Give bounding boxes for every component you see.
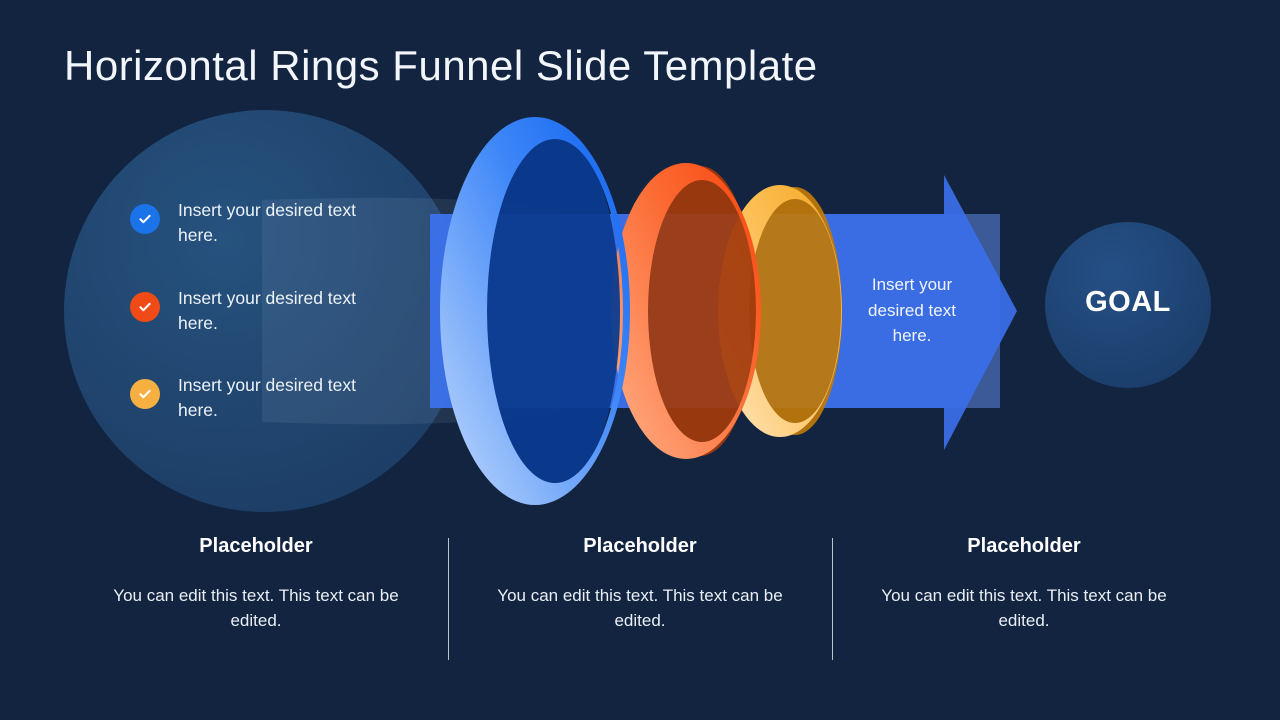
- page-title: Horizontal Rings Funnel Slide Template: [64, 42, 818, 90]
- arrow-caption: Insert your desired text here.: [848, 272, 976, 349]
- ring-stage-2: [611, 163, 761, 459]
- check-circle-icon: [130, 292, 160, 322]
- list-item[interactable]: Insert your desired text here.: [130, 373, 400, 423]
- list-item-label: Insert your desired text here.: [178, 198, 400, 248]
- ring-stage-1: [440, 117, 630, 505]
- placeholder-body: You can edit this text. This text can be…: [856, 584, 1192, 633]
- placeholder-column[interactable]: Placeholder You can edit this text. This…: [64, 535, 448, 633]
- placeholder-column[interactable]: Placeholder You can edit this text. This…: [832, 535, 1216, 633]
- check-circle-icon: [130, 204, 160, 234]
- placeholder-title: Placeholder: [88, 535, 424, 558]
- list-item[interactable]: Insert your desired text here.: [130, 286, 400, 336]
- list-item[interactable]: Insert your desired text here.: [130, 198, 400, 248]
- check-circle-icon: [130, 379, 160, 409]
- placeholder-title: Placeholder: [856, 535, 1192, 558]
- placeholder-column[interactable]: Placeholder You can edit this text. This…: [448, 535, 832, 633]
- placeholder-body: You can edit this text. This text can be…: [472, 584, 808, 633]
- goal-label: GOAL: [1050, 286, 1206, 319]
- bullet-list: Insert your desired text here. Insert yo…: [130, 198, 400, 423]
- slide-canvas: Horizontal Rings Funnel Slide Template I…: [0, 0, 1280, 720]
- placeholder-columns: Placeholder You can edit this text. This…: [64, 535, 1216, 663]
- list-item-label: Insert your desired text here.: [178, 286, 400, 336]
- placeholder-title: Placeholder: [472, 535, 808, 558]
- placeholder-body: You can edit this text. This text can be…: [88, 584, 424, 633]
- list-item-label: Insert your desired text here.: [178, 373, 400, 423]
- ring-stage-3: [718, 185, 842, 437]
